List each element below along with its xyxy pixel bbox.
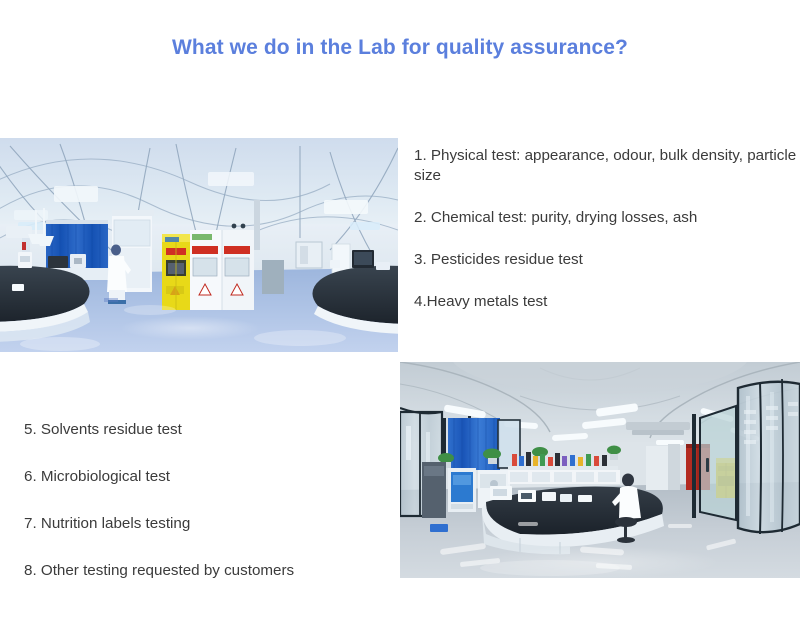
page-title: What we do in the Lab for quality assura… — [0, 36, 800, 60]
gas-cabinets — [190, 224, 254, 310]
tests-list-left: 5. Solvents residue test 6. Microbiologi… — [24, 420, 396, 608]
test-item: 2. Chemical test: purity, drying losses,… — [414, 208, 800, 228]
test-item: 5. Solvents residue test — [24, 420, 396, 440]
lab-panorama-top-left-art — [0, 138, 398, 352]
test-item: 7. Nutrition labels testing — [24, 514, 396, 534]
test-item: 6. Microbiological test — [24, 467, 396, 487]
slide-root: What we do in the Lab for quality assura… — [0, 0, 800, 636]
test-item: 1. Physical test: appearance, odour, bul… — [414, 146, 800, 186]
glass-partition-curved-right — [738, 379, 800, 534]
test-item: 8. Other testing requested by customers — [24, 561, 396, 581]
glass-door — [700, 406, 736, 520]
lab-panorama-bottom-right-art — [400, 362, 800, 578]
test-item: 3. Pesticides residue test — [414, 250, 800, 270]
tests-list-right: 1. Physical test: appearance, odour, bul… — [414, 146, 800, 312]
lab-panorama-image-bottom-right — [400, 362, 800, 578]
blue-refrigerator — [448, 468, 476, 512]
test-item: 4.Heavy metals test — [414, 292, 800, 312]
lab-panorama-image-top-left — [0, 138, 398, 352]
yellow-safety-cabinet — [162, 234, 190, 310]
